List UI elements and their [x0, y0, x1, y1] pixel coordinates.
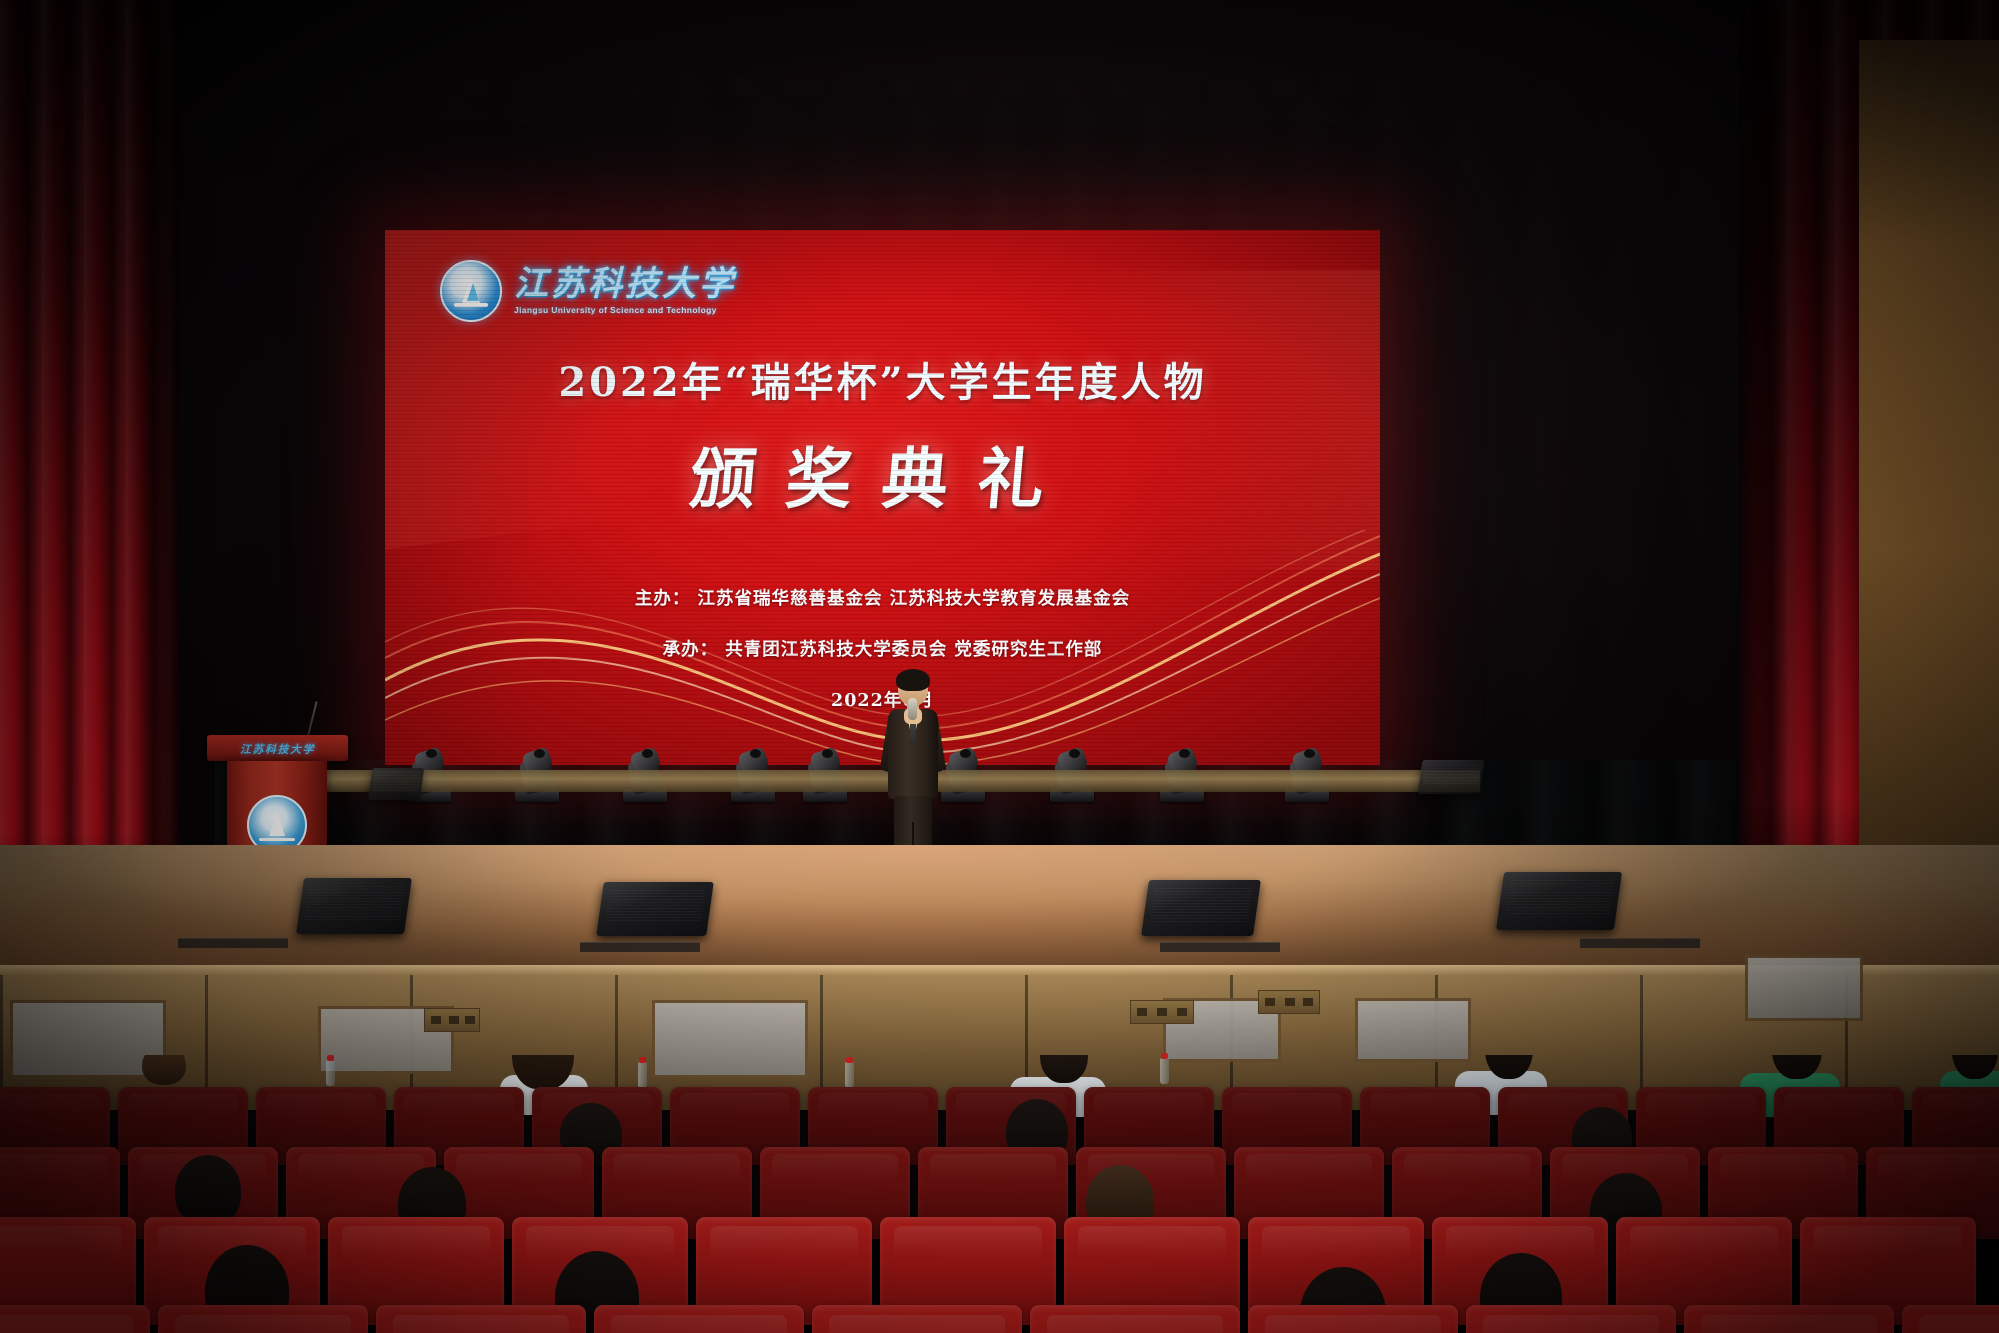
event-big-title: 颁奖典礼 — [385, 426, 1380, 522]
auditorium-seat — [0, 1305, 150, 1333]
auditorium-seat — [1466, 1305, 1676, 1333]
event-headline: 2022年“瑞华杯”大学生年度人物 — [385, 350, 1380, 408]
auditorium-seat — [812, 1305, 1022, 1333]
audience-seating — [0, 1055, 1999, 1333]
auditorium-seat — [158, 1305, 368, 1333]
credit-line-host: 承办： 共青团江苏科技大学委员会 党委研究生工作部 — [385, 636, 1380, 661]
auditorium-seat — [1684, 1305, 1894, 1333]
stage-floor-monitor — [296, 878, 412, 934]
side-speaker-cabinet — [368, 768, 424, 800]
wall-outlet-plate — [1258, 990, 1320, 1014]
footlight-fixture — [1580, 938, 1700, 948]
wall-outlet-plate — [424, 1008, 480, 1032]
stage-floor-monitor — [1496, 872, 1622, 930]
university-logo: 江苏科技大学 Jiangsu University of Science and… — [440, 260, 736, 322]
handheld-microphone — [908, 698, 917, 720]
auditorium-seat — [376, 1305, 586, 1333]
acoustic-panel — [1355, 998, 1471, 1062]
auditorium-seat — [1030, 1305, 1240, 1333]
podium-top: 江苏科技大学 — [207, 735, 348, 761]
wall-outlet-plate — [1130, 1000, 1194, 1024]
stage-floor-monitor — [1141, 880, 1261, 936]
footlight-fixture — [178, 938, 288, 948]
footlight-fixture — [1160, 942, 1280, 952]
university-name-en: Jiangsu University of Science and Techno… — [514, 306, 736, 315]
podium-name-plate: 江苏科技大学 — [207, 741, 348, 757]
auditorium-seat — [1902, 1305, 1999, 1333]
stage-curtain-left — [0, 0, 180, 905]
acoustic-panel — [1745, 955, 1863, 1021]
footlight-fixture — [580, 942, 700, 952]
university-name-cn: 江苏科技大学 — [514, 267, 736, 301]
side-speaker-cabinet — [1418, 760, 1485, 794]
side-wood-wall-shading — [1859, 40, 1999, 860]
auditorium-seat — [594, 1305, 804, 1333]
stage-floor-monitor — [596, 882, 714, 936]
auditorium-scene: 江苏科技大学 Jiangsu University of Science and… — [0, 0, 1999, 1333]
auditorium-seat — [1248, 1305, 1458, 1333]
audience-member — [142, 1055, 186, 1085]
sailboat-emblem-icon — [440, 260, 502, 322]
credit-line-organizer: 主办： 江苏省瑞华慈善基金会 江苏科技大学教育发展基金会 — [385, 585, 1380, 610]
